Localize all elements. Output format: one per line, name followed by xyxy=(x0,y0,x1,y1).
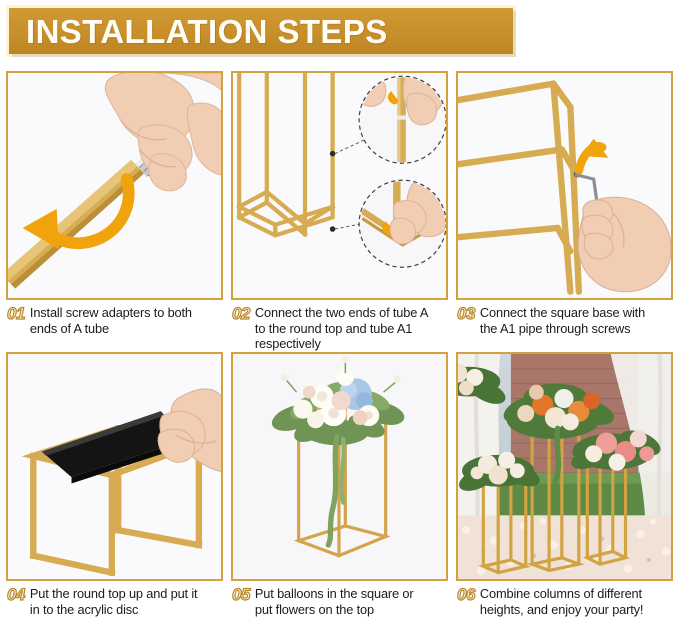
step-text-06: Combine columns of different heights, an… xyxy=(480,586,643,617)
step-cell-05: 05 Put balloons in the square or put flo… xyxy=(231,352,448,627)
step-text-02: Connect the two ends of tube A to the ro… xyxy=(255,305,428,352)
step-caption-03: 03 Connect the square base with the A1 p… xyxy=(456,300,673,346)
step-text-03: Connect the square base with the A1 pipe… xyxy=(480,305,645,336)
step-image-02 xyxy=(231,71,448,300)
detail-callout-bottom xyxy=(359,180,446,267)
callout-anchor-bottom xyxy=(330,226,336,232)
step-image-03 xyxy=(456,71,673,300)
step-cell-02: 02 Connect the two ends of tube A to the… xyxy=(231,71,448,346)
step-number-06: 06 xyxy=(456,586,475,604)
step-image-06 xyxy=(456,352,673,581)
art-tall-rectangular-frame-with-two-detail-callouts xyxy=(233,73,446,298)
page-title: INSTALLATION STEPS xyxy=(9,15,388,48)
installation-steps-infographic: INSTALLATION STEPS xyxy=(0,0,679,631)
steps-grid: 01 Install screw adapters to both ends o… xyxy=(6,71,673,627)
step-caption-02: 02 Connect the two ends of tube A to the… xyxy=(231,300,448,346)
step-image-04 xyxy=(6,352,223,581)
art-frame-corner-with-hand-and-allen-key xyxy=(458,73,671,298)
art-gold-column-stand-with-flower-arrangement xyxy=(233,354,446,579)
art-wedding-scene-multiple-gold-columns-with-flowers xyxy=(458,354,671,579)
step-cell-06: 06 Combine columns of different heights,… xyxy=(456,352,673,627)
step-number-04: 04 xyxy=(6,586,25,604)
step-caption-06: 06 Combine columns of different heights,… xyxy=(456,581,673,627)
step-number-01: 01 xyxy=(6,305,25,323)
step-caption-01: 01 Install screw adapters to both ends o… xyxy=(6,300,223,346)
step-text-05: Put balloons in the square or put flower… xyxy=(255,586,414,617)
step-number-05: 05 xyxy=(231,586,250,604)
step-number-03: 03 xyxy=(456,305,475,323)
header-banner-inner: INSTALLATION STEPS xyxy=(9,8,513,54)
callout-anchor-top xyxy=(330,151,336,157)
step-image-01 xyxy=(6,71,223,300)
header-banner: INSTALLATION STEPS xyxy=(6,5,516,57)
step-text-04: Put the round top up and put it in to th… xyxy=(30,586,198,617)
step-number-02: 02 xyxy=(231,305,250,323)
art-hand-placing-black-acrylic-top-on-frame xyxy=(8,354,221,579)
step-cell-01: 01 Install screw adapters to both ends o… xyxy=(6,71,223,346)
step-text-01: Install screw adapters to both ends of A… xyxy=(30,305,192,336)
step-cell-04: 04 Put the round top up and put it in to… xyxy=(6,352,223,627)
step-cell-03: 03 Connect the square base with the A1 p… xyxy=(456,71,673,346)
step-caption-04: 04 Put the round top up and put it in to… xyxy=(6,581,223,627)
step-caption-05: 05 Put balloons in the square or put flo… xyxy=(231,581,448,627)
art-hand-holding-tube-with-screw-adapter xyxy=(8,73,221,298)
step-image-05 xyxy=(231,352,448,581)
